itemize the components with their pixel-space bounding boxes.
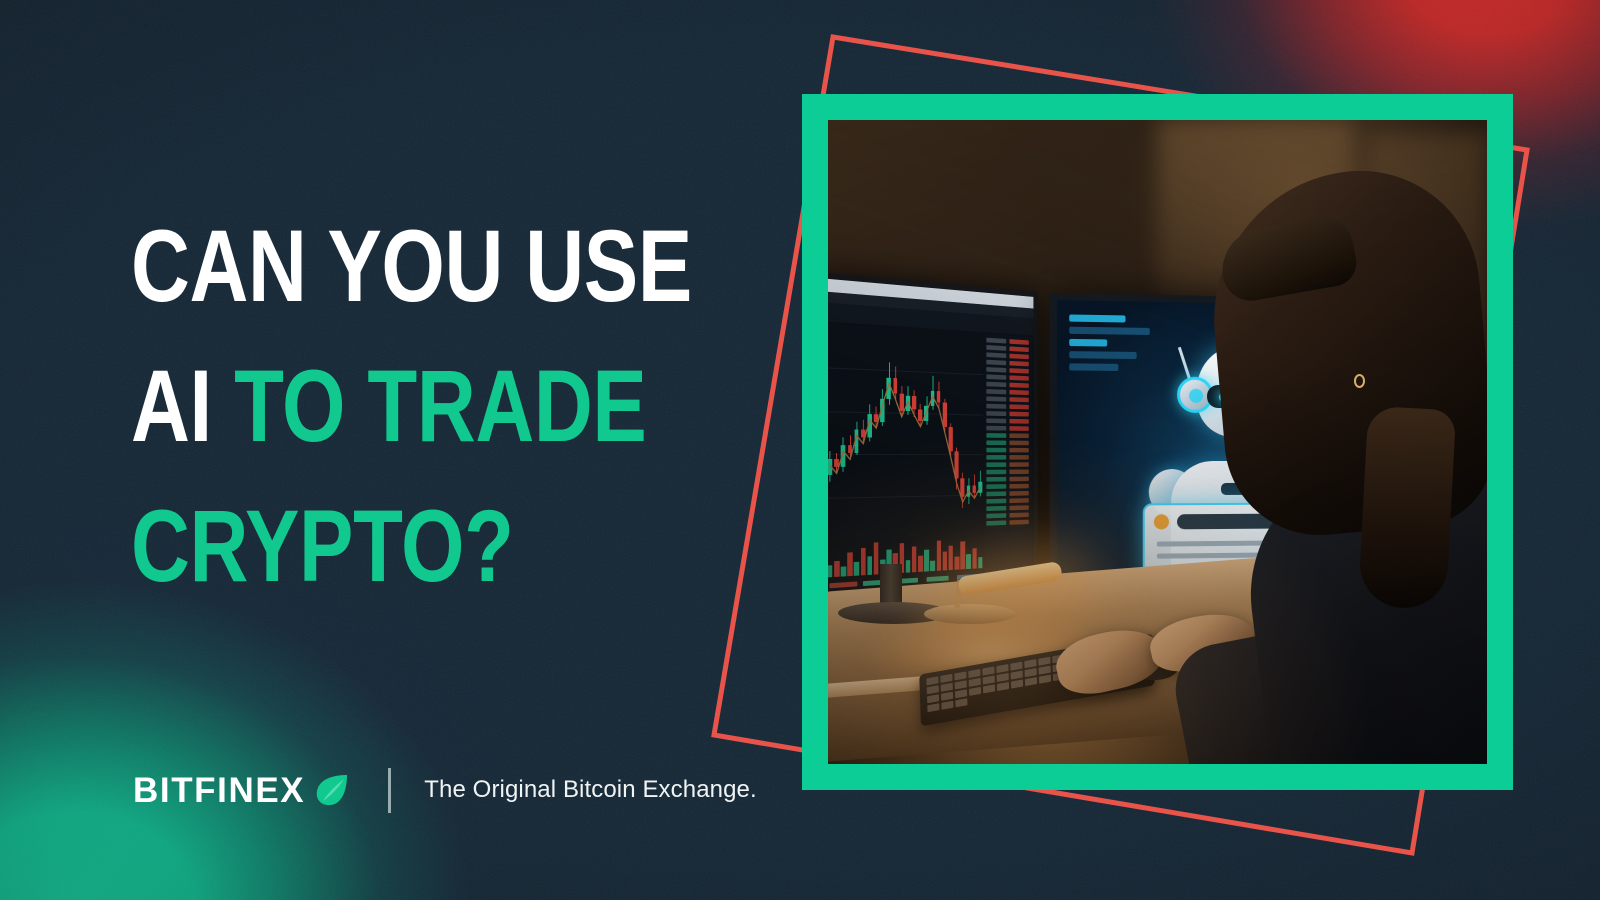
leaf-icon: [312, 770, 352, 810]
photo-green-frame: [802, 94, 1513, 790]
poster-canvas: CAN YOU USE AI TO TRADE CRYPTO? BITFINEX…: [0, 0, 1600, 900]
brand-divider: [388, 768, 391, 813]
headline-to-trade-text: TO TRADE: [234, 349, 646, 463]
headline-line-1: CAN YOU USE: [131, 196, 627, 336]
headline-crypto-text: CRYPTO?: [131, 489, 514, 603]
hero-photo: [828, 120, 1487, 764]
headline-line-3: CRYPTO?: [131, 476, 627, 616]
headline-ai-text: AI: [131, 349, 212, 463]
page-title: CAN YOU USE AI TO TRADE CRYPTO?: [131, 196, 627, 616]
bitfinex-wordmark: BITFINEX: [133, 773, 305, 808]
brand-lockup[interactable]: BITFINEX The Original Bitcoin Exchange.: [133, 766, 757, 814]
photo-color-grade: [828, 120, 1487, 764]
headline-line-1-text: CAN YOU USE: [131, 209, 692, 323]
headline-line-2: AI TO TRADE: [131, 336, 627, 476]
brand-tagline: The Original Bitcoin Exchange.: [424, 776, 757, 804]
